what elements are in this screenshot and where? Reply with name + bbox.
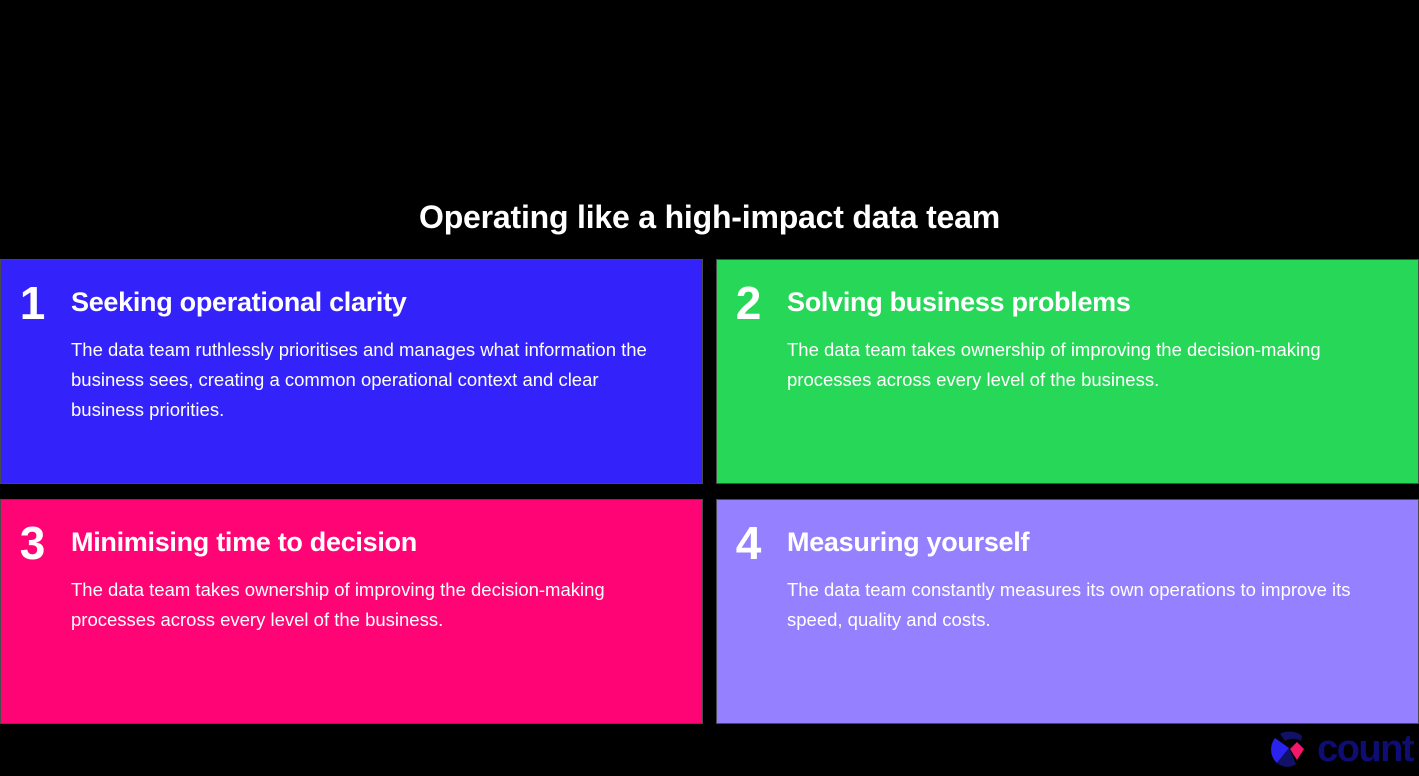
card-body-text: The data team takes ownership of improvi… [787,335,1357,395]
page-title: Operating like a high-impact data team [0,196,1419,238]
count-logo[interactable]: count [1269,728,1413,770]
card-body-text: The data team constantly measures its ow… [787,575,1357,635]
slide-canvas: Operating like a high-impact data team 1… [0,0,1419,776]
card-number: 3 [11,520,53,566]
card-title: Minimising time to decision [71,520,417,562]
card-title: Solving business problems [787,280,1131,322]
card-measuring-yourself[interactable]: 4 Measuring yourself The data team const… [716,499,1419,724]
card-solving-business-problems[interactable]: 2 Solving business problems The data tea… [716,259,1419,484]
card-body-text: The data team takes ownership of improvi… [71,575,671,635]
count-logo-mark [1269,729,1311,769]
card-header: 2 Solving business problems [727,280,1394,326]
card-body-text: The data team ruthlessly prioritises and… [71,335,671,425]
card-number: 1 [11,280,53,326]
card-title: Measuring yourself [787,520,1029,562]
card-header: 4 Measuring yourself [727,520,1394,566]
count-wordmark: count [1317,730,1413,768]
card-number: 2 [727,280,769,326]
card-header: 3 Minimising time to decision [11,520,678,566]
card-header: 1 Seeking operational clarity [11,280,678,326]
card-grid: 1 Seeking operational clarity The data t… [0,259,1419,724]
card-minimising-time-to-decision[interactable]: 3 Minimising time to decision The data t… [0,499,703,724]
card-seeking-operational-clarity[interactable]: 1 Seeking operational clarity The data t… [0,259,703,484]
card-title: Seeking operational clarity [71,280,407,322]
card-number: 4 [727,520,769,566]
